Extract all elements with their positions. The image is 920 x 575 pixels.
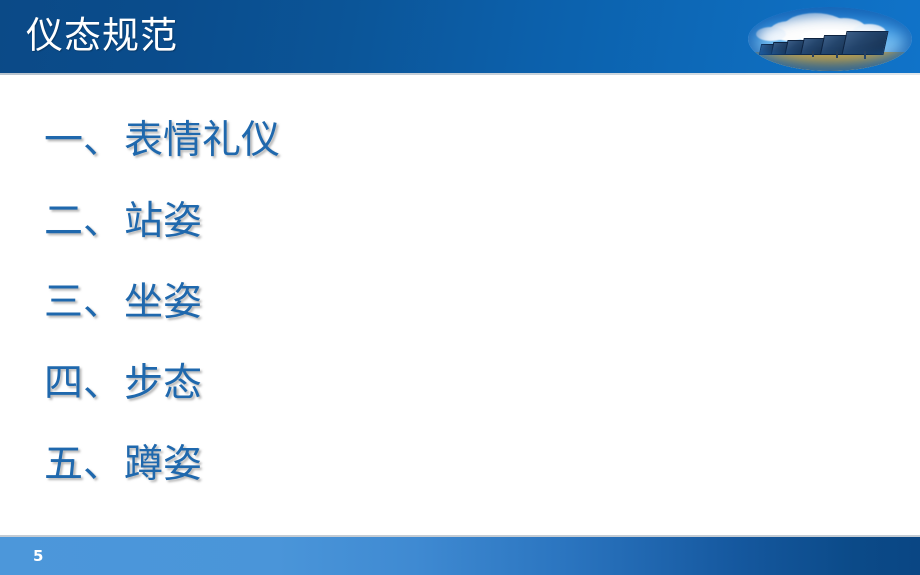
list-item-label: 站姿 <box>124 199 202 244</box>
page-title: 仪态规范 <box>26 8 178 64</box>
list-item-label: 坐姿 <box>124 280 202 325</box>
list-item: 一、表情礼仪 <box>44 118 280 164</box>
list-item-label: 表情礼仪 <box>124 118 280 163</box>
list-item-label: 步态 <box>124 361 202 406</box>
page-number: 5 <box>33 546 43 566</box>
solar-panel-farm-photo <box>748 7 912 71</box>
list-item-number: 四、 <box>44 361 122 406</box>
list-item: 二、站姿 <box>44 199 202 245</box>
list-item-number: 五、 <box>44 442 122 487</box>
list-item-label: 蹲姿 <box>124 442 202 487</box>
list-item: 五、蹲姿 <box>44 442 202 488</box>
list-item-number: 一、 <box>44 118 122 163</box>
list-item-number: 二、 <box>44 199 122 244</box>
presentation-slide: 仪态规范 一、表情礼仪 二、站姿 三、坐姿 四、步态 <box>0 0 920 575</box>
agenda-list: 一、表情礼仪 二、站姿 三、坐姿 四、步态 五、蹲姿 <box>0 73 920 535</box>
list-item: 四、步态 <box>44 361 202 407</box>
slide-footer-bar <box>0 537 920 575</box>
list-item-number: 三、 <box>44 280 122 325</box>
photo-oval-vignette <box>748 7 912 71</box>
list-item: 三、坐姿 <box>44 280 202 326</box>
